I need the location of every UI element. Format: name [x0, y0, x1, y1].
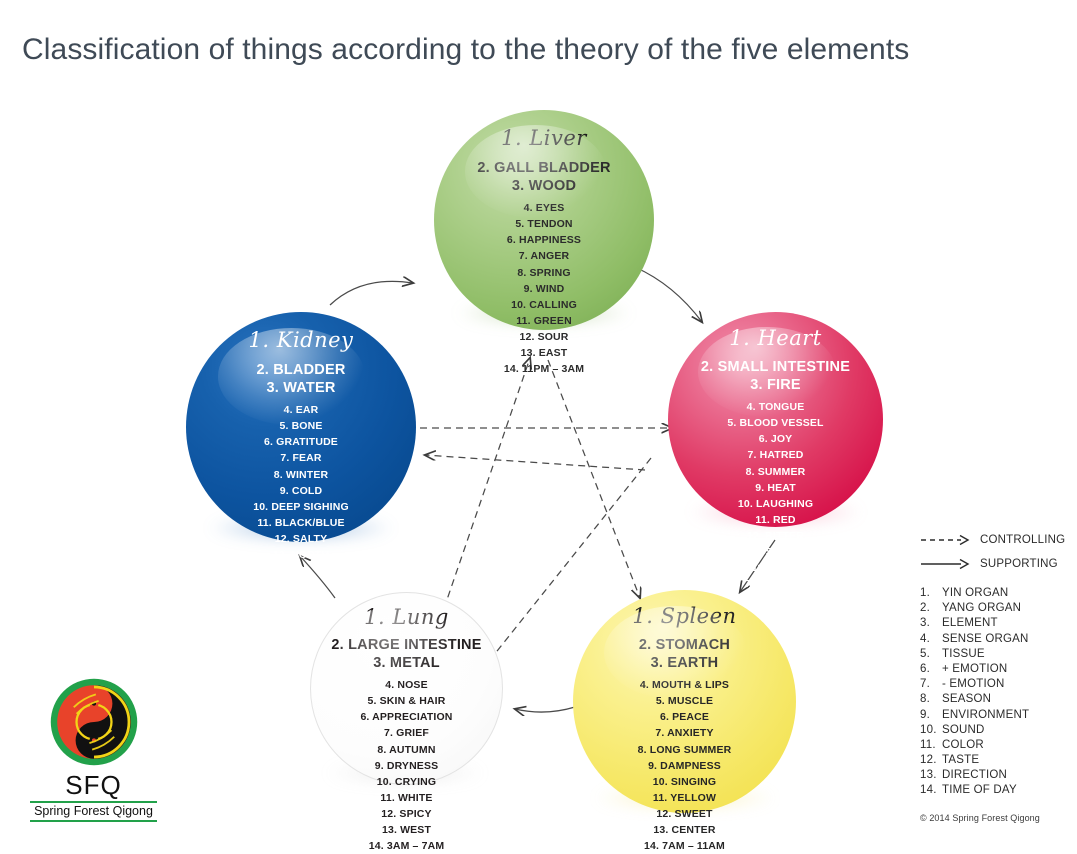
legend-item-supporting: SUPPORTING	[920, 554, 1070, 574]
legend-index-row: 6.+ EMOTION	[920, 664, 1075, 679]
legend-index-label: SEASON	[942, 694, 991, 709]
legend-index-number: 7.	[920, 679, 942, 694]
legend-index-number: 12.	[920, 755, 942, 770]
logo-name: Spring Forest Qigong	[30, 801, 157, 822]
attribute-row: 5. MUSCLE	[638, 693, 732, 709]
attribute-row: 14. 11AM – 3PM,	[727, 560, 823, 576]
sphere-kidney-element: 3. WATER	[266, 379, 335, 397]
legend-label-controlling: CONTROLLING	[972, 534, 1065, 546]
attribute-row: 14. 3AM – 7AM	[360, 838, 452, 854]
sphere-liver-yin-organ: 1. Liver	[501, 128, 587, 149]
legend-index-number: 3.	[920, 618, 942, 633]
legend-index-number: 4.	[920, 634, 942, 649]
sphere-kidney-yin-organ: 1. Kidney	[249, 330, 354, 351]
attribute-row: 14. 11PM – 3AM	[504, 361, 584, 377]
sphere-kidney-yang-organ: 2. BLADDER	[256, 361, 345, 379]
sphere-liver-element: 3. WOOD	[512, 177, 576, 195]
attribute-row: 13. SOUTH	[727, 544, 823, 560]
attribute-row: 12. SALTY	[253, 531, 349, 547]
sphere-kidney-water[interactable]: 1. Kidney 2. BLADDER 3. WATER 4. EAR5. B…	[186, 312, 416, 542]
arrow-controlling-spleen-to-kidney	[425, 455, 645, 470]
attribute-row: 11. GREEN	[504, 313, 584, 329]
attribute-row: 10. SINGING	[638, 774, 732, 790]
legend-index-label: YIN ORGAN	[942, 588, 1008, 603]
attribute-row: 4. EAR	[253, 402, 349, 418]
legend-index-row: 7.- EMOTION	[920, 679, 1075, 694]
attribute-row: 9. DAMPNESS	[638, 758, 732, 774]
legend-index-number: 5.	[920, 649, 942, 664]
attribute-row: 7. FEAR	[253, 450, 349, 466]
attribute-row: 8. SPRING	[504, 265, 584, 281]
attribute-row: 6. PEACE	[638, 709, 732, 725]
legend-label-supporting: SUPPORTING	[972, 558, 1058, 570]
attribute-row: 13. CENTER	[638, 822, 732, 838]
attribute-row: 12. BITTER	[727, 528, 823, 544]
attribute-row: 12. SPICY	[360, 806, 452, 822]
legend-item-controlling: CONTROLLING	[920, 530, 1070, 550]
sphere-liver-yang-organ: 2. GALL BLADDER	[477, 159, 610, 177]
legend-index-row: 4.SENSE ORGAN	[920, 634, 1075, 649]
legend-index-number: 6.	[920, 664, 942, 679]
arrow-supporting-kidney-to-liver	[330, 281, 413, 305]
attribute-row: 6. APPRECIATION	[360, 709, 452, 725]
attribute-row: 9. COLD	[253, 483, 349, 499]
attribute-row: 11. BLACK/BLUE	[253, 515, 349, 531]
sphere-liver-wood[interactable]: 1. Liver 2. GALL BLADDER 3. WOOD 4. EYES…	[434, 110, 654, 330]
attribute-row: 14. 7AM – 11AM	[638, 838, 732, 854]
legend-index-number: 13.	[920, 770, 942, 785]
sphere-heart-yang-organ: 2. SMALL INTESTINE	[701, 358, 850, 376]
page-title: Classification of things according to th…	[22, 33, 909, 67]
attribute-row: 7. GRIEF	[360, 725, 452, 741]
attribute-row: 10. DEEP SIGHING	[253, 499, 349, 515]
attribute-row: 13. WEST	[360, 822, 452, 838]
arrow-supporting-spleen-to-lung	[515, 707, 575, 712]
legend-index-label: DIRECTION	[942, 770, 1007, 785]
sphere-lung-attributes: 4. NOSE5. SKIN & HAIR6. APPRECIATION7. G…	[360, 677, 452, 854]
attribute-row: 8. AUTUMN	[360, 742, 452, 758]
attribute-row: 9. DRYNESS	[360, 758, 452, 774]
legend-index-label: TIME OF DAY	[942, 785, 1017, 800]
attribute-row: 9. WIND	[504, 281, 584, 297]
legend-index-row: 11.COLOR	[920, 740, 1075, 755]
legend-index-label: SOUND	[942, 725, 985, 740]
legend-index-number: 9.	[920, 710, 942, 725]
solid-arrow-icon	[920, 557, 972, 571]
attribute-row: 7. HATRED	[727, 447, 823, 463]
attribute-row: 9. HEAT	[727, 480, 823, 496]
legend-index-row: 13.DIRECTION	[920, 770, 1075, 785]
attribute-row: 11. YELLOW	[638, 790, 732, 806]
dashed-arrow-icon	[920, 533, 972, 547]
attribute-row: 7. ANXIETY	[638, 725, 732, 741]
sphere-heart-fire[interactable]: 1. Heart 2. SMALL INTESTINE 3. FIRE 4. T…	[668, 312, 883, 527]
sphere-lung-yin-organ: 1. Lung	[364, 607, 449, 628]
legend-index-label: SENSE ORGAN	[942, 634, 1029, 649]
sphere-heart-attributes: 4. TONGUE5. BLOOD VESSEL6. JOY7. HATRED8…	[727, 399, 823, 592]
attribute-row: 6. HAPPINESS	[504, 232, 584, 248]
arrow-supporting-liver-to-heart	[630, 265, 702, 322]
attribute-row: 5. SKIN & HAIR	[360, 693, 452, 709]
attribute-row: 8. WINTER	[253, 467, 349, 483]
attribute-row: 4. EYES	[504, 200, 584, 216]
legend-index-row: 12.TASTE	[920, 755, 1075, 770]
arrow-controlling-liver-to-spleen	[548, 360, 640, 598]
attribute-row: 8. LONG SUMMER	[638, 742, 732, 758]
legend-index-number: 1.	[920, 588, 942, 603]
sphere-lung-metal[interactable]: 1. Lung 2. LARGE INTESTINE 3. METAL 4. N…	[310, 592, 503, 785]
sphere-lung-element: 3. METAL	[373, 654, 440, 672]
attribute-row: 5. BONE	[253, 418, 349, 434]
legend-index-row: 2.YANG ORGAN	[920, 603, 1075, 618]
sphere-kidney-attributes: 4. EAR5. BONE6. GRATITUDE7. FEAR8. WINTE…	[253, 402, 349, 579]
copyright-notice: © 2014 Spring Forest Qigong	[920, 813, 1040, 823]
legend-index-number: 11.	[920, 740, 942, 755]
attribute-row: 12. SWEET	[638, 806, 732, 822]
attribute-row: 11. WHITE	[360, 790, 452, 806]
attribute-row: 10. LAUGHING	[727, 496, 823, 512]
attribute-row: 5. TENDON	[504, 216, 584, 232]
attribute-row: 13. NORTH	[253, 547, 349, 563]
legend-index-row: 8.SEASON	[920, 694, 1075, 709]
legend-index-number: 10.	[920, 725, 942, 740]
attribute-row: 10. CALLING	[504, 297, 584, 313]
legend-index-row: 14.TIME OF DAY	[920, 785, 1075, 800]
attribute-row: 7PM – 11PM	[727, 576, 823, 592]
legend-index-number: 8.	[920, 694, 942, 709]
sfq-logo: SFQ Spring Forest Qigong	[30, 676, 157, 822]
legend-index-row: 5.TISSUE	[920, 649, 1075, 664]
yin-yang-icon	[48, 676, 140, 768]
attribute-row: 7. ANGER	[504, 248, 584, 264]
legend-index-row: 3.ELEMENT	[920, 618, 1075, 633]
legend-index-row: 10.SOUND	[920, 725, 1075, 740]
attribute-row: 8. SUMMER	[727, 464, 823, 480]
sphere-heart-element: 3. FIRE	[750, 376, 801, 394]
attribute-row: 4. NOSE	[360, 677, 452, 693]
sphere-spleen-yang-organ: 2. STOMACH	[639, 636, 730, 654]
sphere-spleen-element: 3. EARTH	[651, 654, 719, 672]
sphere-lung-yang-organ: 2. LARGE INTESTINE	[331, 636, 481, 654]
legend-index-label: COLOR	[942, 740, 984, 755]
attribute-row: 12. SOUR	[504, 329, 584, 345]
arrow-controlling-lung-to-liver	[440, 358, 530, 620]
attribute-row: 11. RED	[727, 512, 823, 528]
sphere-heart-yin-organ: 1. Heart	[729, 328, 821, 349]
attribute-row: 4. TONGUE	[727, 399, 823, 415]
legend: CONTROLLING SUPPORTING	[920, 530, 1070, 578]
legend-index-label: TISSUE	[942, 649, 985, 664]
sphere-liver-attributes: 4. EYES5. TENDON6. HAPPINESS7. ANGER8. S…	[504, 200, 584, 377]
attribute-row: 10. CRYING	[360, 774, 452, 790]
sphere-spleen-attributes: 4. MOUTH & LIPS5. MUSCLE6. PEACE7. ANXIE…	[638, 677, 732, 854]
sphere-spleen-earth[interactable]: 1. Spleen 2. STOMACH 3. EARTH 4. MOUTH &…	[573, 590, 796, 813]
legend-index-row: 1.YIN ORGAN	[920, 588, 1075, 603]
attribute-row: 5. BLOOD VESSEL	[727, 415, 823, 431]
logo-abbreviation: SFQ	[30, 772, 157, 798]
legend-index-list: 1.YIN ORGAN2.YANG ORGAN3.ELEMENT4.SENSE …	[920, 588, 1075, 801]
legend-index-label: ENVIRONMENT	[942, 710, 1029, 725]
legend-index-label: ELEMENT	[942, 618, 998, 633]
sphere-spleen-yin-organ: 1. Spleen	[632, 606, 736, 627]
attribute-row: 6. GRATITUDE	[253, 434, 349, 450]
legend-index-number: 2.	[920, 603, 942, 618]
attribute-row: 6. JOY	[727, 431, 823, 447]
legend-index-number: 14.	[920, 785, 942, 800]
legend-index-label: + EMOTION	[942, 664, 1007, 679]
legend-index-label: - EMOTION	[942, 679, 1005, 694]
legend-index-label: TASTE	[942, 755, 979, 770]
attribute-row: 14. 3PM – 7PM	[253, 563, 349, 579]
legend-index-row: 9.ENVIRONMENT	[920, 710, 1075, 725]
attribute-row: 4. MOUTH & LIPS	[638, 677, 732, 693]
attribute-row: 13. EAST	[504, 345, 584, 361]
legend-index-label: YANG ORGAN	[942, 603, 1021, 618]
